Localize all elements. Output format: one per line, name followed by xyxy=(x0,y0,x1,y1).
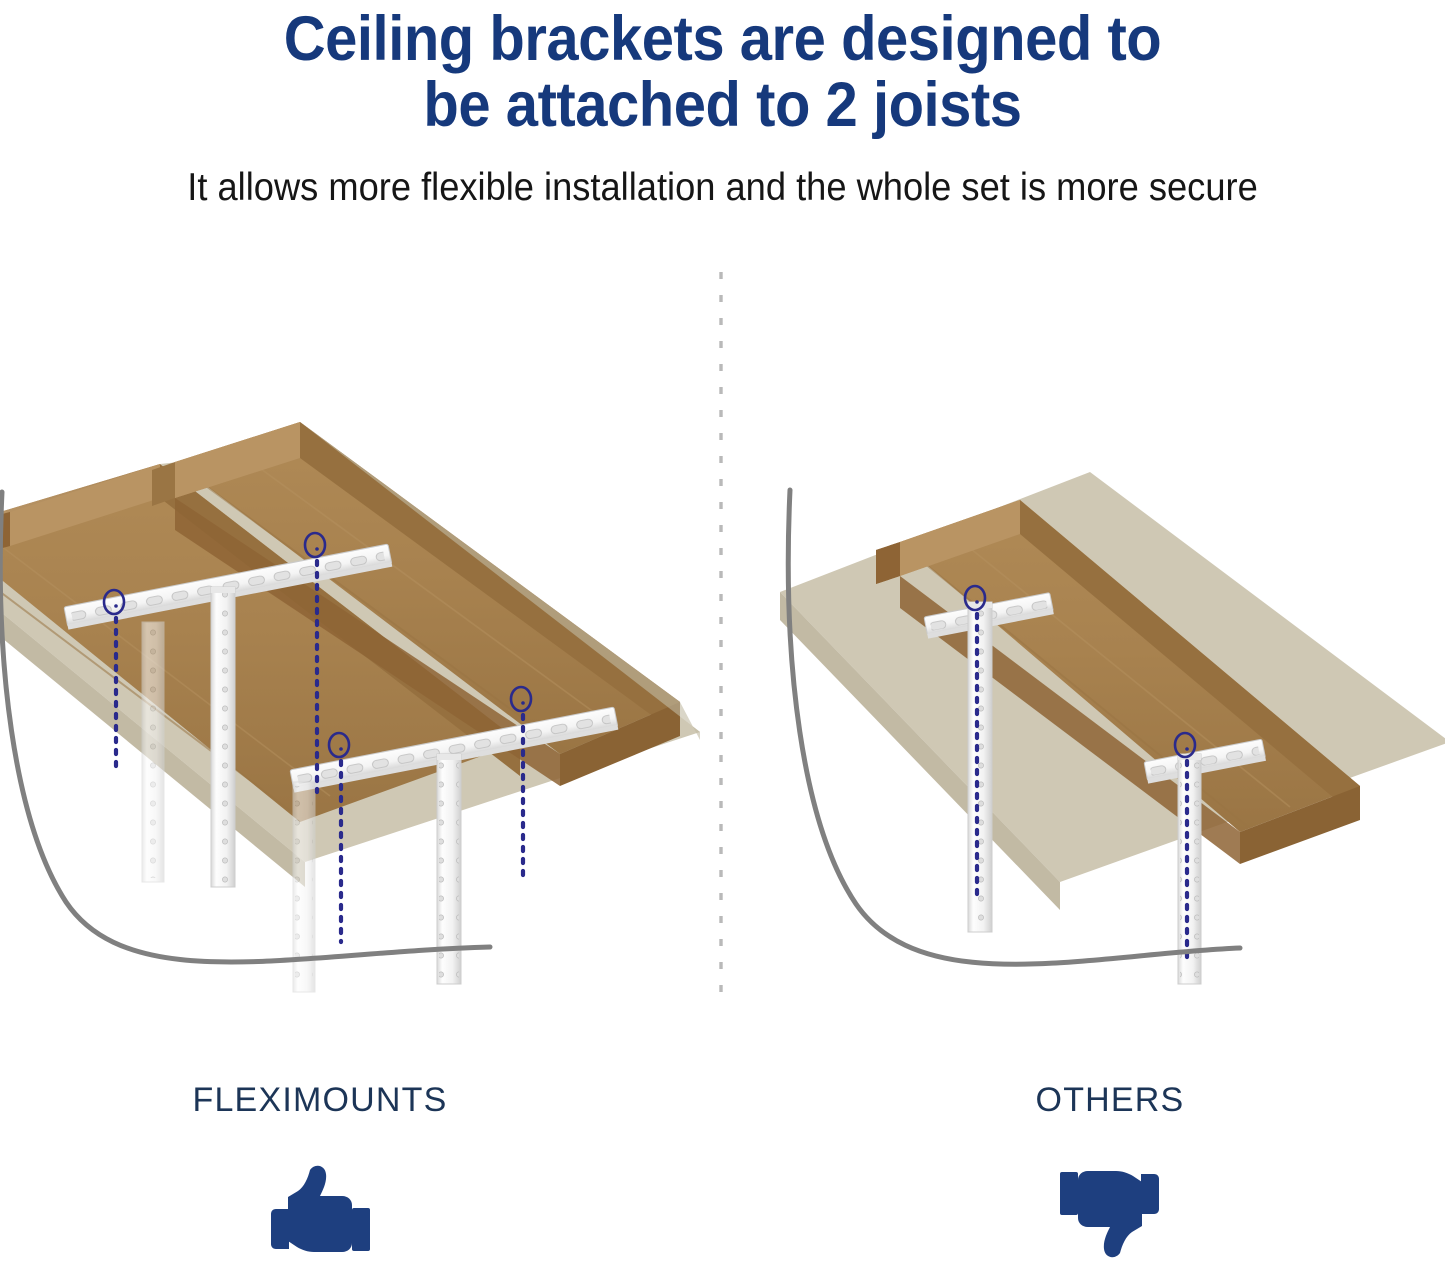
header-block: Ceiling brackets are designed to be atta… xyxy=(0,0,1445,210)
page-subtitle: It allows more flexible installation and… xyxy=(51,138,1395,210)
page-title: Ceiling brackets are designed to be atta… xyxy=(58,0,1387,138)
brand-label-others: OTHERS xyxy=(790,1080,1430,1120)
verdict-negative xyxy=(790,1164,1430,1259)
comparison-diagram xyxy=(0,262,1445,1062)
bracket-post-left-b xyxy=(211,587,235,887)
column-fleximounts: FLEXIMOUNTS xyxy=(0,1080,640,1259)
thumbs-down-icon xyxy=(1060,1164,1160,1259)
brand-label-fleximounts: FLEXIMOUNTS xyxy=(0,1080,640,1120)
page-title-line-2: be attached to 2 joists xyxy=(58,72,1387,138)
verdict-positive xyxy=(0,1164,640,1259)
bracket-post-right-a xyxy=(968,602,992,932)
illustration-others xyxy=(780,472,1445,984)
page-title-line-1: Ceiling brackets are designed to xyxy=(58,6,1387,72)
illustration-fleximounts xyxy=(0,422,700,992)
comparison-illustration-stage xyxy=(0,262,1445,1062)
column-others: OTHERS xyxy=(790,1080,1430,1259)
infographic-page: Ceiling brackets are designed to be atta… xyxy=(0,0,1445,1277)
footer-block: FLEXIMOUNTS OTHERS xyxy=(0,1080,1445,1277)
thumbs-up-icon xyxy=(270,1164,370,1259)
bracket-post-left-a xyxy=(142,622,164,882)
